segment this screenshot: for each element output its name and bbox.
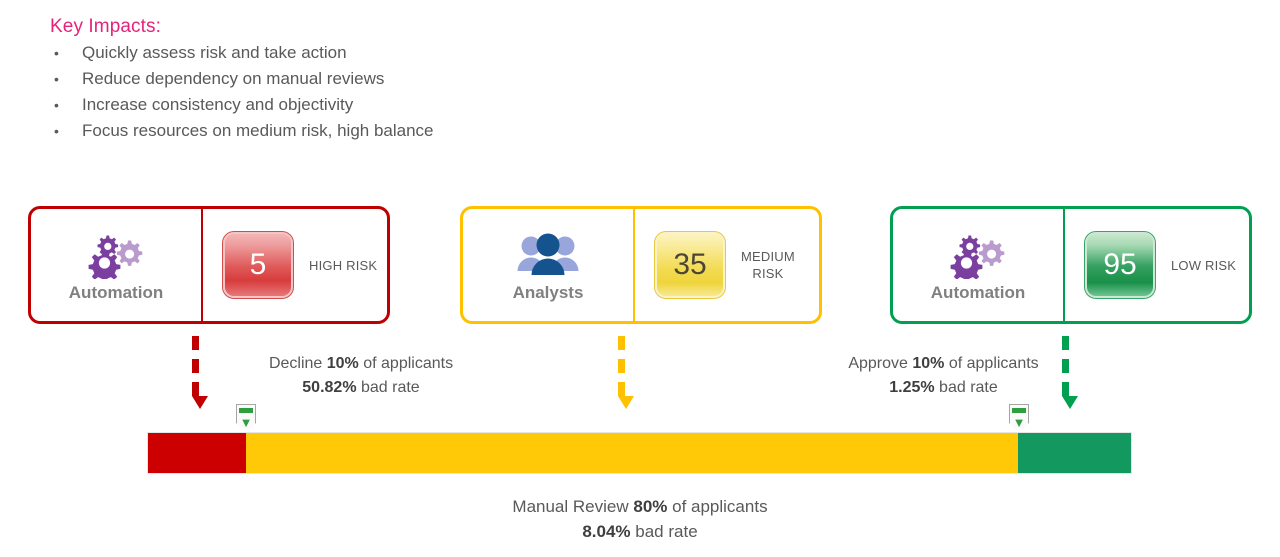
bar-segment-approve bbox=[1018, 433, 1131, 473]
manual-review-callout: Manual Review 80% of applicants 8.04% ba… bbox=[470, 494, 810, 544]
approve-callout: Approve 10% of applicants 1.25% bad rate bbox=[826, 352, 1061, 400]
bullet-icon: • bbox=[54, 66, 59, 92]
gears-icon bbox=[85, 231, 147, 279]
approve-bad-rate: 1.25% bbox=[889, 379, 934, 396]
chevron-down-icon: ▼ bbox=[240, 416, 253, 429]
manual-callout-line2: 8.04% bad rate bbox=[470, 519, 810, 544]
risk-label-line2: RISK bbox=[741, 265, 795, 282]
manual-action: Manual Review bbox=[512, 497, 633, 516]
arrow-head bbox=[618, 396, 634, 409]
list-item: • Focus resources on medium risk, high b… bbox=[50, 118, 610, 144]
list-item-label: Focus resources on medium risk, high bal… bbox=[82, 121, 434, 140]
panel-score-area-low-risk: 95 LOW RISK bbox=[1065, 209, 1249, 321]
list-item-label: Quickly assess risk and take action bbox=[82, 43, 347, 62]
decline-callout-line2: 50.82% bad rate bbox=[246, 376, 476, 400]
people-icon bbox=[515, 231, 581, 279]
approve-arrow-icon bbox=[1062, 336, 1076, 420]
approve-share-suffix: of applicants bbox=[944, 355, 1038, 372]
lower-cutoff-handle[interactable]: ▼ bbox=[236, 404, 256, 432]
bullet-icon: • bbox=[54, 92, 59, 118]
bar-segment-manual-review bbox=[246, 433, 1018, 473]
list-item-label: Reduce dependency on manual reviews bbox=[82, 69, 384, 88]
approve-callout-line2: 1.25% bad rate bbox=[826, 376, 1061, 400]
upper-cutoff-handle[interactable]: ▼ bbox=[1009, 404, 1029, 432]
decline-share: 10% bbox=[327, 355, 359, 372]
panel-actor-medium-risk: Analysts bbox=[463, 209, 635, 321]
decline-callout: Decline 10% of applicants 50.82% bad rat… bbox=[246, 352, 476, 400]
risk-label: HIGH RISK bbox=[309, 257, 377, 274]
approve-bad-rate-suffix: bad rate bbox=[935, 379, 998, 396]
decline-callout-line1: Decline 10% of applicants bbox=[246, 352, 476, 376]
bullet-icon: • bbox=[54, 118, 59, 144]
arrow-head bbox=[1062, 396, 1078, 409]
manual-bad-rate: 8.04% bbox=[582, 522, 630, 541]
arrow-stem bbox=[618, 336, 632, 396]
arrow-head bbox=[192, 396, 208, 409]
panel-score-area-high-risk: 5 HIGH RISK bbox=[203, 209, 387, 321]
panel-high-risk: Automation 5 HIGH RISK bbox=[28, 206, 390, 324]
panel-score-area-medium-risk: 35 MEDIUM RISK bbox=[635, 209, 819, 321]
population-distribution-bar bbox=[147, 432, 1132, 474]
gears-icon bbox=[947, 231, 1009, 279]
risk-label: MEDIUM RISK bbox=[741, 248, 795, 282]
panel-actor-label: Analysts bbox=[513, 283, 584, 303]
key-impacts-list: • Quickly assess risk and take action • … bbox=[50, 40, 610, 144]
manual-bad-rate-suffix: bad rate bbox=[631, 522, 698, 541]
panel-actor-label: Automation bbox=[69, 283, 163, 303]
manual-review-arrow-icon bbox=[618, 336, 632, 420]
panel-actor-label: Automation bbox=[931, 283, 1025, 303]
score-tile: 95 bbox=[1085, 232, 1155, 298]
panel-low-risk: Automation 95 LOW RISK bbox=[890, 206, 1252, 324]
score-tile: 35 bbox=[655, 232, 725, 298]
manual-share: 80% bbox=[633, 497, 667, 516]
list-item-label: Increase consistency and objectivity bbox=[82, 95, 353, 114]
panel-actor-high-risk: Automation bbox=[31, 209, 203, 321]
chevron-down-icon: ▼ bbox=[1013, 416, 1026, 429]
approve-share: 10% bbox=[912, 355, 944, 372]
arrow-stem bbox=[1062, 336, 1076, 396]
handle-grip bbox=[239, 408, 253, 413]
panel-actor-low-risk: Automation bbox=[893, 209, 1065, 321]
key-impacts-title: Key Impacts: bbox=[50, 14, 610, 40]
panel-medium-risk: Analysts 35 MEDIUM RISK bbox=[460, 206, 822, 324]
decline-share-suffix: of applicants bbox=[359, 355, 453, 372]
key-impacts-block: Key Impacts: • Quickly assess risk and t… bbox=[50, 14, 610, 144]
bullet-icon: • bbox=[54, 40, 59, 66]
bar-segment-decline bbox=[148, 433, 246, 473]
decline-bad-rate-suffix: bad rate bbox=[357, 379, 420, 396]
decline-bad-rate: 50.82% bbox=[302, 379, 356, 396]
handle-grip bbox=[1012, 408, 1026, 413]
manual-callout-line1: Manual Review 80% of applicants bbox=[470, 494, 810, 519]
risk-label: LOW RISK bbox=[1171, 257, 1236, 274]
approve-callout-line1: Approve 10% of applicants bbox=[826, 352, 1061, 376]
arrow-stem bbox=[192, 336, 206, 396]
score-tile: 5 bbox=[223, 232, 293, 298]
list-item: • Increase consistency and objectivity bbox=[50, 92, 610, 118]
approve-action: Approve bbox=[848, 355, 912, 372]
list-item: • Quickly assess risk and take action bbox=[50, 40, 610, 66]
decline-action: Decline bbox=[269, 355, 327, 372]
list-item: • Reduce dependency on manual reviews bbox=[50, 66, 610, 92]
risk-label-line1: MEDIUM bbox=[741, 248, 795, 265]
manual-share-suffix: of applicants bbox=[667, 497, 767, 516]
decline-arrow-icon bbox=[192, 336, 206, 420]
